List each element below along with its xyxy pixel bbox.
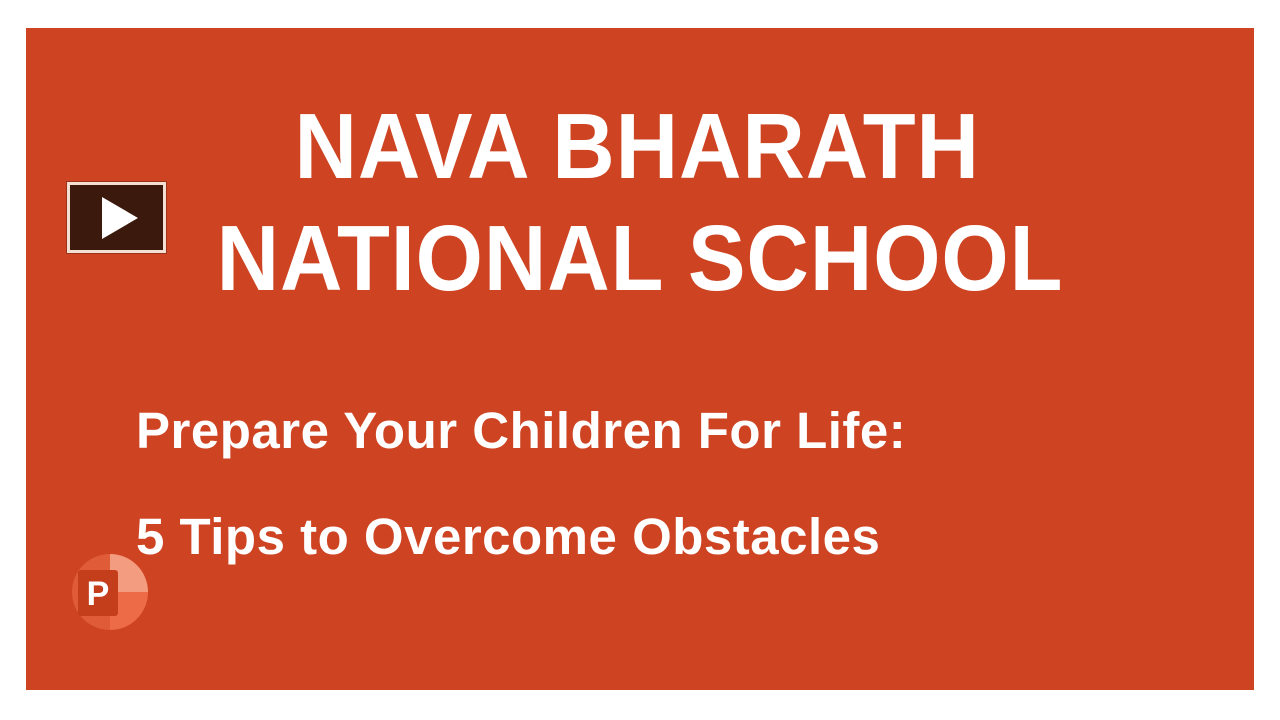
- powerpoint-icon: P: [66, 548, 154, 636]
- slide-title-line-2: NATIONAL SCHOOL: [69, 202, 1211, 314]
- slide-subtitle-line-2: 5 Tips to Overcome Obstacles: [136, 484, 1196, 590]
- play-icon[interactable]: [67, 182, 166, 253]
- slide-title: NAVA BHARATH NATIONAL SCHOOL: [69, 90, 1211, 314]
- play-triangle-glyph: [102, 197, 138, 239]
- slide-subtitle: Prepare Your Children For Life: 5 Tips t…: [136, 378, 1196, 590]
- slide-title-line-1: NAVA BHARATH: [69, 90, 1211, 202]
- slide-subtitle-line-1: Prepare Your Children For Life:: [136, 378, 1196, 484]
- slide-viewer: NAVA BHARATH NATIONAL SCHOOL Prepare You…: [0, 0, 1280, 720]
- powerpoint-letter: P: [87, 575, 110, 613]
- slide-canvas[interactable]: NAVA BHARATH NATIONAL SCHOOL Prepare You…: [26, 28, 1254, 690]
